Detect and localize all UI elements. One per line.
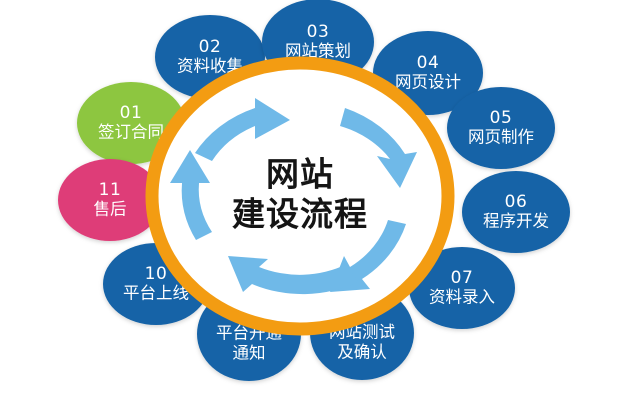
node-label-line-1: 售后 [94,200,127,219]
node-label-line-2: 及确认 [337,343,387,362]
process-node-05[interactable]: 05网页制作 [447,87,555,169]
website-process-cycle-diagram: 01签订合同02资料收集03网站策划04网页设计05网页制作06程序开发07资料… [0,0,640,401]
node-label-line-1: 网页设计 [395,73,461,92]
node-number: 02 [199,37,222,57]
process-node-06[interactable]: 06程序开发 [462,171,570,253]
node-number: 10 [145,264,168,284]
node-number: 07 [451,268,474,288]
node-number: 04 [417,53,440,73]
center-title-line-2: 建设流程 [232,195,368,234]
node-label-line-1: 资料录入 [429,288,495,307]
center-title-line-1: 网站 [266,155,334,194]
node-number: 06 [505,192,528,212]
node-label-line-2: 通知 [233,344,266,363]
node-number: 05 [490,108,513,128]
node-number: 11 [99,180,122,200]
node-number: 03 [307,22,330,42]
node-label-line-1: 网页制作 [468,128,534,147]
node-label-line-1: 签订合同 [98,123,164,142]
diagram-canvas: 01签订合同02资料收集03网站策划04网页设计05网页制作06程序开发07资料… [0,0,640,401]
node-number: 01 [120,103,143,123]
node-label-line-1: 平台上线 [123,284,189,303]
node-label-line-1: 程序开发 [483,212,549,231]
